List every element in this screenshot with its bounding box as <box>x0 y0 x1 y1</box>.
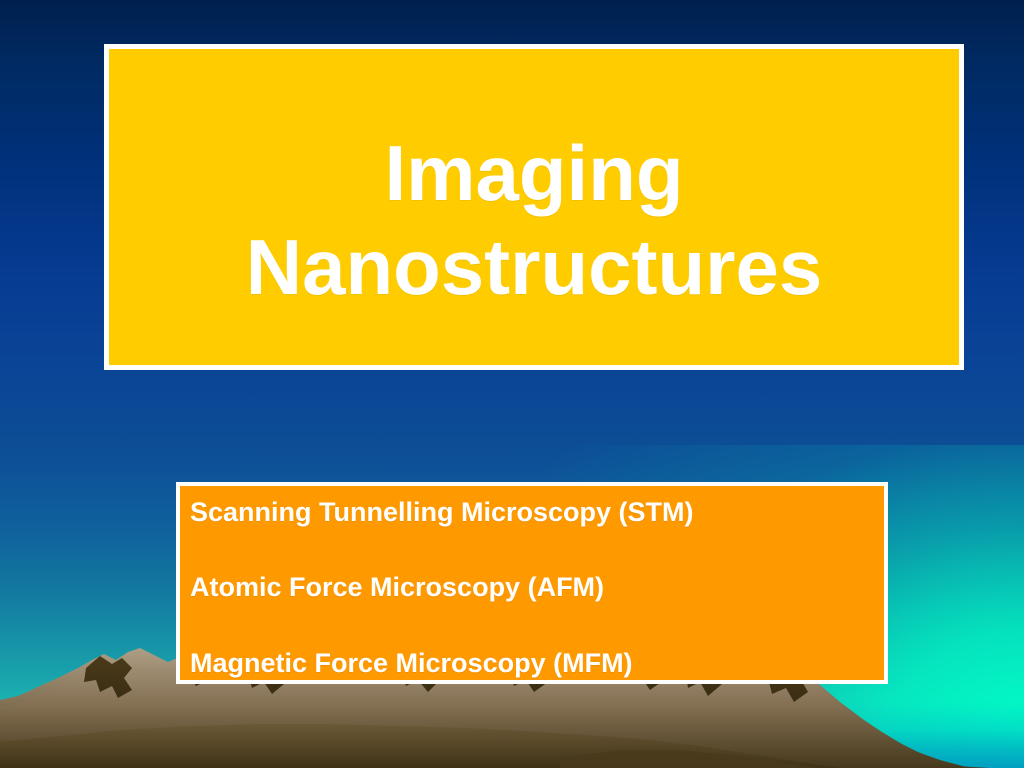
slide-title-line-2: Nanostructures <box>125 221 943 315</box>
slide-title-line-1: Imaging <box>125 127 943 221</box>
subtitle-item-afm: Atomic Force Microscopy (AFM) <box>190 573 884 601</box>
presentation-slide: Imaging Nanostructures Scanning Tunnelli… <box>0 0 1024 768</box>
slide-title-box: Imaging Nanostructures <box>104 44 964 370</box>
subtitle-item-mfm: Magnetic Force Microscopy (MFM) <box>190 649 884 677</box>
slide-subtitle-box: Scanning Tunnelling Microscopy (STM) Ato… <box>176 482 888 684</box>
subtitle-item-stm: Scanning Tunnelling Microscopy (STM) <box>190 498 884 526</box>
slide-title: Imaging Nanostructures <box>109 127 959 314</box>
